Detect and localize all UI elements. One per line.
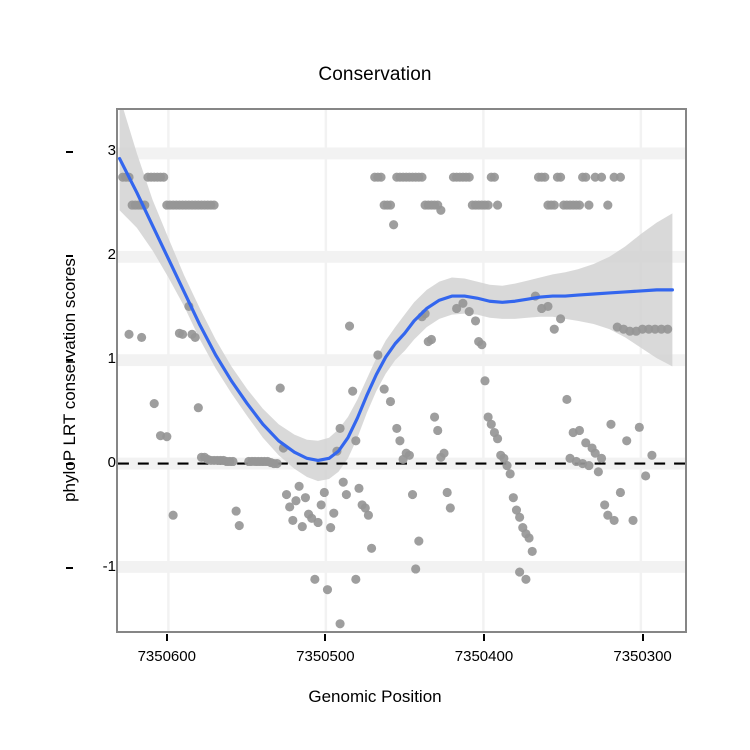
data-point bbox=[329, 509, 338, 518]
data-point bbox=[317, 500, 326, 509]
data-point bbox=[584, 461, 593, 470]
data-point bbox=[210, 201, 219, 210]
x-tick-label: 7350300 bbox=[588, 648, 698, 665]
data-point bbox=[137, 333, 146, 342]
data-point bbox=[487, 420, 496, 429]
data-point bbox=[342, 490, 351, 499]
x-axis: 7350600735050073504007350300 bbox=[116, 634, 687, 674]
data-point bbox=[641, 471, 650, 480]
data-point bbox=[310, 575, 319, 584]
data-point bbox=[351, 575, 360, 584]
data-point bbox=[282, 490, 291, 499]
y-tick-label: 1 bbox=[80, 350, 116, 367]
data-point bbox=[169, 511, 178, 520]
conservation-scatter-figure: Conservation phyloP LRT conservation sco… bbox=[0, 0, 750, 750]
data-point bbox=[439, 449, 448, 458]
data-point bbox=[622, 436, 631, 445]
data-point bbox=[484, 201, 493, 210]
data-point bbox=[584, 201, 593, 210]
data-point bbox=[594, 467, 603, 476]
data-point bbox=[575, 426, 584, 435]
data-point bbox=[477, 340, 486, 349]
data-point bbox=[301, 493, 310, 502]
data-point bbox=[427, 335, 436, 344]
data-point bbox=[597, 173, 606, 182]
data-point bbox=[178, 330, 187, 339]
plot-canvas bbox=[118, 110, 685, 631]
gridlines bbox=[118, 110, 685, 631]
data-point bbox=[543, 302, 552, 311]
x-tick-mark bbox=[324, 634, 326, 641]
data-point bbox=[345, 321, 354, 330]
data-point bbox=[232, 507, 241, 516]
data-point bbox=[515, 568, 524, 577]
data-point bbox=[443, 488, 452, 497]
data-point bbox=[556, 173, 565, 182]
data-point bbox=[556, 314, 565, 323]
x-axis-title: Genomic Position bbox=[0, 687, 750, 707]
data-point bbox=[603, 201, 612, 210]
data-point bbox=[124, 330, 133, 339]
data-point bbox=[348, 387, 357, 396]
data-point bbox=[351, 436, 360, 445]
data-point bbox=[471, 316, 480, 325]
data-point bbox=[493, 434, 502, 443]
data-point bbox=[430, 412, 439, 421]
y-tick-mark bbox=[66, 463, 73, 465]
data-point bbox=[465, 307, 474, 316]
data-point bbox=[581, 173, 590, 182]
data-point bbox=[635, 423, 644, 432]
data-point bbox=[336, 619, 345, 628]
data-point bbox=[364, 511, 373, 520]
data-point bbox=[408, 490, 417, 499]
data-point bbox=[550, 201, 559, 210]
chart-title: Conservation bbox=[0, 64, 750, 86]
data-point bbox=[600, 500, 609, 509]
data-point bbox=[575, 201, 584, 210]
data-point bbox=[616, 488, 625, 497]
data-point bbox=[414, 537, 423, 546]
data-point bbox=[373, 350, 382, 359]
data-point bbox=[354, 484, 363, 493]
data-point bbox=[326, 523, 335, 532]
data-point bbox=[446, 503, 455, 512]
data-point bbox=[159, 173, 168, 182]
data-point bbox=[389, 220, 398, 229]
data-point bbox=[288, 516, 297, 525]
y-tick-label: 2 bbox=[80, 246, 116, 263]
data-point bbox=[628, 516, 637, 525]
data-point bbox=[616, 173, 625, 182]
y-tick-mark bbox=[66, 567, 73, 569]
data-point bbox=[458, 299, 467, 308]
y-tick-label: 0 bbox=[80, 454, 116, 471]
data-point bbox=[276, 384, 285, 393]
data-point bbox=[395, 436, 404, 445]
data-point bbox=[191, 333, 200, 342]
data-point bbox=[515, 513, 524, 522]
data-point bbox=[386, 201, 395, 210]
data-point bbox=[367, 544, 376, 553]
data-point bbox=[663, 325, 672, 334]
data-point bbox=[313, 518, 322, 527]
data-point bbox=[194, 403, 203, 412]
data-point bbox=[436, 206, 445, 215]
plot-panel bbox=[116, 108, 687, 633]
data-point bbox=[295, 482, 304, 491]
y-tick-label: -1 bbox=[80, 558, 116, 575]
data-point bbox=[550, 325, 559, 334]
data-point bbox=[417, 173, 426, 182]
x-tick-label: 7350500 bbox=[270, 648, 380, 665]
data-point bbox=[480, 376, 489, 385]
data-point bbox=[606, 420, 615, 429]
data-point bbox=[647, 451, 656, 460]
scatter-points bbox=[118, 173, 672, 629]
x-tick-mark bbox=[483, 634, 485, 641]
data-point bbox=[506, 469, 515, 478]
y-axis: -10123 bbox=[66, 108, 116, 633]
data-point bbox=[528, 547, 537, 556]
x-tick-label: 7350600 bbox=[112, 648, 222, 665]
data-point bbox=[490, 173, 499, 182]
y-tick-mark bbox=[66, 151, 73, 153]
data-point bbox=[235, 521, 244, 530]
y-tick-label: 3 bbox=[80, 142, 116, 159]
data-point bbox=[336, 424, 345, 433]
x-tick-label: 7350400 bbox=[429, 648, 539, 665]
data-point bbox=[525, 533, 534, 542]
y-tick-mark bbox=[66, 255, 73, 257]
data-point bbox=[411, 564, 420, 573]
data-point bbox=[502, 461, 511, 470]
data-point bbox=[320, 488, 329, 497]
data-point bbox=[386, 397, 395, 406]
data-point bbox=[610, 516, 619, 525]
data-point bbox=[291, 496, 300, 505]
data-point bbox=[493, 201, 502, 210]
data-point bbox=[228, 457, 237, 466]
data-point bbox=[273, 459, 282, 468]
data-point bbox=[380, 385, 389, 394]
data-point bbox=[540, 173, 549, 182]
data-point bbox=[562, 395, 571, 404]
x-tick-mark bbox=[642, 634, 644, 641]
data-point bbox=[162, 432, 171, 441]
data-point bbox=[376, 173, 385, 182]
data-point bbox=[433, 426, 442, 435]
data-point bbox=[509, 493, 518, 502]
data-point bbox=[597, 454, 606, 463]
data-point bbox=[405, 451, 414, 460]
data-point bbox=[339, 478, 348, 487]
data-point bbox=[298, 522, 307, 531]
data-point bbox=[521, 575, 530, 584]
data-point bbox=[150, 399, 159, 408]
data-point bbox=[323, 585, 332, 594]
y-tick-mark bbox=[66, 359, 73, 361]
data-point bbox=[465, 173, 474, 182]
data-point bbox=[392, 424, 401, 433]
x-tick-mark bbox=[166, 634, 168, 641]
